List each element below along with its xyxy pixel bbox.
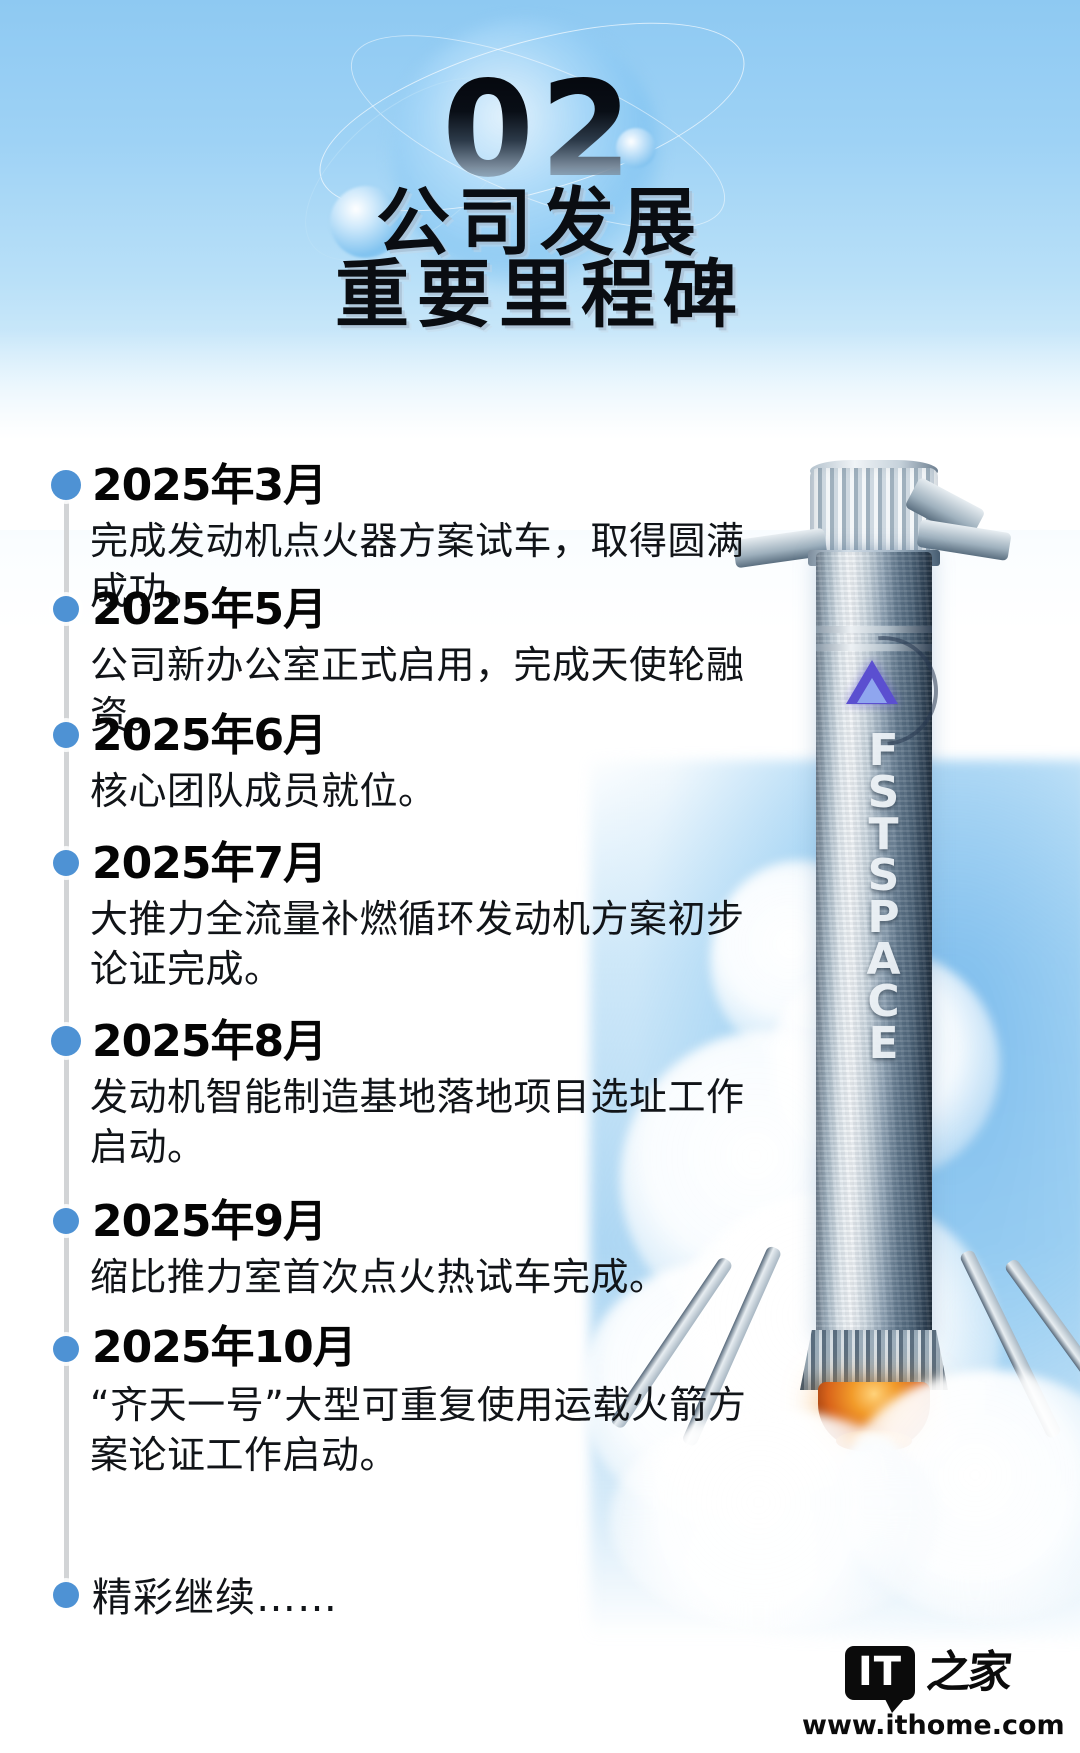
timeline-description: “齐天一号”大型可重复使用运载火箭方案论证工作启动。 [90,1380,770,1480]
timeline-date: 2025年10月 [92,1326,356,1370]
timeline-date: 2025年9月 [92,1200,326,1244]
timeline-description: 发动机智能制造基地落地项目选址工作启动。 [90,1072,770,1172]
timeline-date: 2025年6月 [92,714,326,758]
timeline-dot-icon [53,850,79,876]
timeline-dot-icon [53,722,79,748]
site-watermark[interactable]: IT 之家 www.ithome.com [802,1642,1052,1741]
section-number: 02 [0,64,1080,196]
timeline-dot-icon [53,1208,79,1234]
timeline-description: 大推力全流量补燃循环发动机方案初步论证完成。 [90,894,770,994]
page-title-line-1: 公司发展 [0,186,1080,260]
timeline-dot-icon [53,596,79,622]
timeline-dot-icon [51,470,81,500]
timeline-date: 2025年8月 [92,1020,326,1064]
timeline-dot-icon [53,1582,79,1608]
timeline-continuation-label: 精彩继续…… [92,1578,338,1618]
page-title-line-2: 重要里程碑 [0,258,1080,332]
timeline-dot-icon [53,1336,79,1362]
timeline-description: 缩比推力室首次点火热试车完成。 [90,1252,770,1302]
timeline-date: 2025年7月 [92,842,326,886]
watermark-logo-row: IT 之家 [802,1642,1052,1704]
timeline-date: 2025年5月 [92,588,326,632]
watermark-url: www.ithome.com [802,1710,1052,1741]
ithome-name-cn: 之家 [925,1651,1012,1695]
timeline-date: 2025年3月 [92,464,326,508]
poster-root: 02 公司发展 重要里程碑 FST SPACE [0,0,1080,1753]
ithome-badge-icon: IT [845,1646,915,1700]
timeline-dot-icon [51,1026,81,1056]
timeline-description: 核心团队成员就位。 [90,766,770,816]
